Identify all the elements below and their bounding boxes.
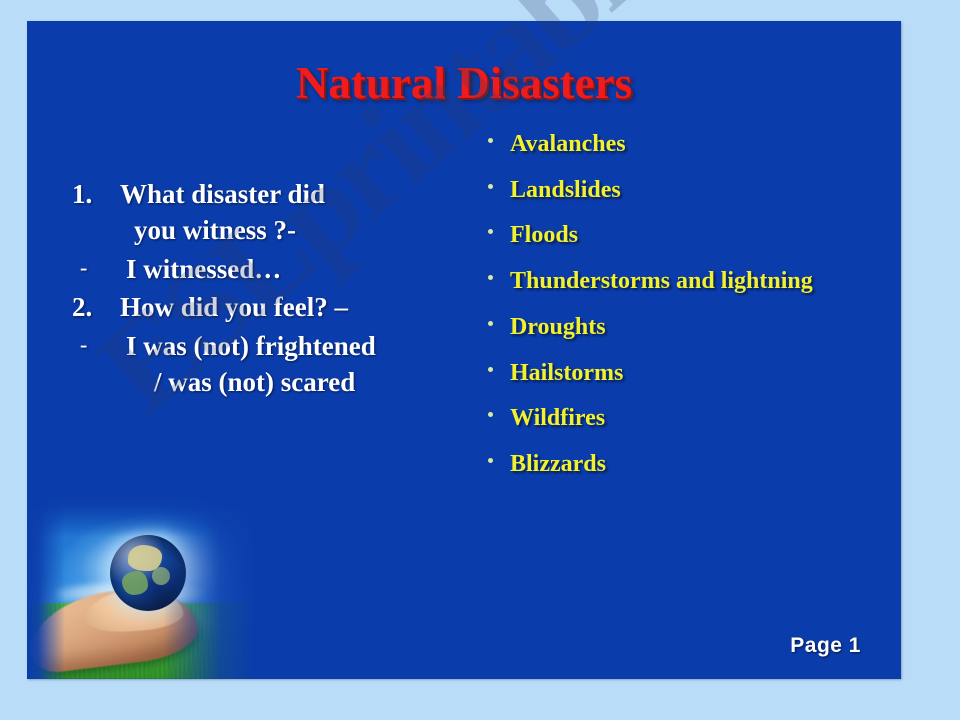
bullet-icon [482, 175, 510, 189]
question-marker: - [72, 328, 126, 361]
bullet-icon [482, 403, 510, 417]
list-item: Hailstorms [482, 358, 882, 389]
list-item-label: Wildfires [510, 403, 882, 434]
list-item-label: Thunderstorms and lightning [510, 266, 882, 297]
question-text: I was (not) frightened / was (not) scare… [126, 328, 492, 401]
bullet-icon [482, 312, 510, 326]
list-item-label: Droughts [510, 312, 882, 343]
question-item: 2. How did you feel? – [72, 289, 492, 325]
list-item-label: Avalanches [510, 129, 882, 160]
slide-title: Natural Disasters [27, 57, 901, 109]
list-item-label: Landslides [510, 175, 882, 206]
question-line-2: you witness ?- [120, 212, 492, 248]
question-text: What disaster did you witness ?- [120, 176, 492, 249]
bullet-icon [482, 266, 510, 280]
question-item: 1. What disaster did you witness ?- [72, 176, 492, 249]
list-item: Blizzards [482, 449, 882, 480]
question-line-1: I was (not) frightened [126, 331, 376, 361]
slide-page: Natural Disasters 1. What disaster did y… [0, 0, 960, 720]
globe-landmass [122, 571, 148, 595]
bullet-icon [482, 449, 510, 463]
question-marker: - [72, 251, 126, 284]
question-marker: 2. [72, 289, 120, 325]
question-item: - I was (not) frightened / was (not) sca… [72, 328, 492, 401]
photo-fade-right [163, 495, 255, 679]
question-line-1: What disaster did [120, 179, 325, 209]
page-number: Page 1 [790, 634, 861, 658]
bullet-icon [482, 129, 510, 143]
presentation-slide: Natural Disasters 1. What disaster did y… [27, 21, 901, 679]
photo-fade-left [27, 495, 65, 679]
list-item-label: Floods [510, 220, 882, 251]
list-item-label: Hailstorms [510, 358, 882, 389]
list-item: Droughts [482, 312, 882, 343]
list-item: Avalanches [482, 129, 882, 160]
globe-in-hand-photo [27, 495, 255, 679]
bullet-icon [482, 220, 510, 234]
question-line-2: / was (not) scared [126, 364, 492, 400]
list-item: Floods [482, 220, 882, 251]
question-text: I witnessed… [126, 251, 492, 287]
list-item-label: Blizzards [510, 449, 882, 480]
list-item: Landslides [482, 175, 882, 206]
disasters-list: Avalanches Landslides Floods Thunderstor… [482, 129, 882, 495]
list-item: Thunderstorms and lightning [482, 266, 882, 297]
question-marker: 1. [72, 176, 120, 212]
bullet-icon [482, 358, 510, 372]
list-item: Wildfires [482, 403, 882, 434]
question-text: How did you feel? – [120, 289, 492, 325]
question-line-1: How did you feel? – [120, 292, 348, 322]
question-item: - I witnessed… [72, 251, 492, 287]
questions-column: 1. What disaster did you witness ?- - I … [72, 176, 492, 403]
question-line-1: I witnessed… [126, 254, 281, 284]
